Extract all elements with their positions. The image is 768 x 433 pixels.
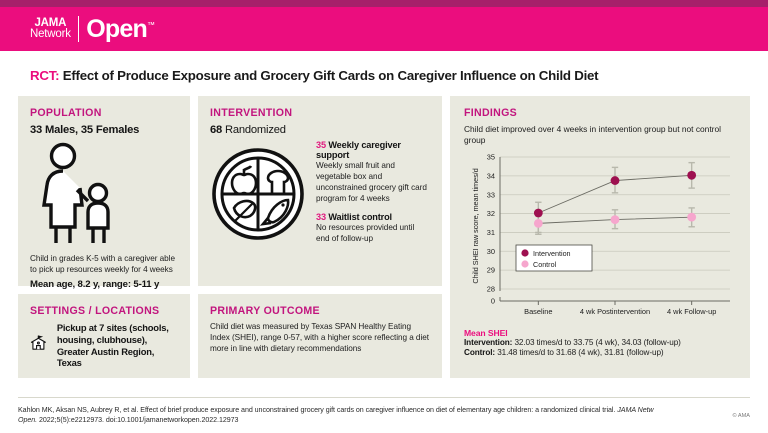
primary-outcome-panel: PRIMARY OUTCOME Child diet was measured … — [198, 294, 442, 378]
intervention-panel: INTERVENTION 68 Randomized — [198, 96, 442, 286]
primary-outcome-text: Child diet was measured by Texas SPAN He… — [210, 322, 430, 354]
right-column: FINDINGS Child diet improved over 4 week… — [450, 96, 750, 378]
logo-line-network: Network — [30, 29, 71, 40]
mean-summary: Mean SHEI Intervention: 32.03 times/d to… — [464, 328, 736, 359]
brand-accent-bar — [0, 0, 768, 7]
arm-name: Weekly caregiver support — [316, 140, 401, 160]
population-panel: POPULATION 33 Males, 35 Females — [18, 96, 190, 286]
mean-value-control: 31.48 times/d to 31.68 (4 wk), 31.81 (fo… — [497, 348, 663, 357]
school-building-icon — [30, 322, 47, 364]
logo-open-wordmark: Open™ — [79, 15, 154, 44]
copyright-notice: © AMA — [733, 405, 751, 419]
settings-panel: SETTINGS / LOCATIONS Pickup at 7 sites (… — [18, 294, 190, 378]
arm-description: No resources provided until end of follo… — [316, 223, 430, 245]
randomized-label: Randomized — [225, 124, 286, 136]
mean-label-intervention: Intervention: — [464, 338, 512, 347]
study-title-text: Effect of Produce Exposure and Grocery G… — [63, 68, 599, 83]
chart-x-tick-label: Baseline — [524, 307, 552, 316]
healthy-plate-icon — [210, 146, 306, 242]
randomized-count: 68 — [210, 124, 222, 136]
left-column: POPULATION 33 Males, 35 Females — [18, 96, 190, 378]
population-stat: 33 Males, 35 Females — [30, 124, 178, 136]
population-icon-wrap — [30, 136, 178, 250]
chart-y-tick: 35 — [487, 152, 495, 161]
settings-heading: SETTINGS / LOCATIONS — [30, 305, 178, 317]
findings-chart: Child SHEI raw score, mean times/d 28293… — [464, 149, 736, 321]
citation-doi: 2022;5(5):e2212973. doi:10.1001/jamanetw… — [37, 416, 238, 424]
mean-summary-heading: Mean SHEI — [464, 328, 736, 338]
chart-y-tick: 29 — [487, 265, 495, 274]
chart-y-axis-label: Child SHEI raw score, mean times/d — [471, 151, 483, 301]
population-heading: POPULATION — [30, 107, 178, 119]
chart-y-tick: 33 — [487, 190, 495, 199]
study-type-label: RCT: — [30, 68, 59, 83]
chart-x-tick-label: 4 wk Postintervention — [580, 307, 650, 316]
mean-summary-row: Control: 31.48 times/d to 31.68 (4 wk), … — [464, 348, 736, 359]
mean-summary-row: Intervention: 32.03 times/d to 33.75 (4 … — [464, 338, 736, 349]
population-age: Mean age, 8.2 y, range: 5-11 y — [30, 279, 178, 290]
citation: Kahlon MK, Aksan NS, Aubrey R, et al. Ef… — [18, 405, 658, 425]
intervention-arm: 35 Weekly caregiver support Weekly small… — [316, 140, 430, 205]
chart-data-point — [611, 176, 620, 185]
findings-heading: FINDINGS — [464, 107, 736, 119]
logo-open-text: Open — [86, 15, 147, 43]
chart-legend-label: Control — [533, 259, 557, 268]
chart-y-tick: 30 — [487, 247, 495, 256]
chart-y-tick: 34 — [487, 171, 495, 180]
intervention-randomized: 68 Randomized — [210, 124, 430, 136]
caregiver-and-child-icon — [36, 142, 124, 246]
trademark-icon: ™ — [147, 20, 154, 29]
jama-network-open-logo: JAMA Network Open™ — [30, 15, 154, 44]
intervention-arms: 35 Weekly caregiver support Weekly small… — [316, 140, 430, 247]
page-title: RCT: Effect of Produce Exposure and Groc… — [0, 51, 768, 96]
findings-summary: Child diet improved over 4 weeks in inte… — [464, 124, 736, 147]
chart-svg: 28293031323334350Baseline4 wk Postinterv… — [464, 149, 736, 321]
intervention-heading: INTERVENTION — [210, 107, 430, 119]
chart-y-tick: 28 — [487, 284, 495, 293]
middle-column: INTERVENTION 68 Randomized — [198, 96, 442, 378]
mean-label-control: Control: — [464, 348, 495, 357]
intervention-icon-wrap — [210, 140, 306, 247]
chart-legend-label: Intervention — [533, 248, 571, 257]
intervention-arm: 33 Waitlist control No resources provide… — [316, 212, 430, 245]
mean-value-intervention: 32.03 times/d to 33.75 (4 wk), 34.03 (fo… — [514, 338, 680, 347]
footer-divider — [18, 397, 750, 398]
arm-count: 35 — [316, 140, 326, 150]
jama-network-wordmark: JAMA Network — [30, 18, 78, 40]
chart-data-point — [534, 219, 543, 228]
footer: Kahlon MK, Aksan NS, Aubrey R, et al. Ef… — [0, 397, 768, 433]
findings-panel: FINDINGS Child diet improved over 4 week… — [450, 96, 750, 378]
arm-name: Waitlist control — [328, 212, 392, 222]
chart-y-tick-zero: 0 — [491, 296, 495, 305]
citation-authors-title: Kahlon MK, Aksan NS, Aubrey R, et al. Ef… — [18, 406, 617, 414]
chart-x-tick-label: 4 wk Follow-up — [667, 307, 716, 316]
chart-data-point — [611, 215, 620, 224]
settings-text: Pickup at 7 sites (schools, housing, clu… — [57, 322, 178, 369]
chart-y-tick: 32 — [487, 209, 495, 218]
population-note: Child in grades K-5 with a caregiver abl… — [30, 254, 178, 276]
chart-data-point — [687, 171, 696, 180]
arm-description: Weekly small fruit and vegetable box and… — [316, 161, 430, 205]
visual-abstract-page: JAMA Network Open™ RCT: Effect of Produc… — [0, 0, 768, 433]
chart-legend: InterventionControl — [516, 245, 592, 271]
chart-data-point — [534, 208, 543, 217]
arm-count: 33 — [316, 212, 326, 222]
chart-y-tick: 31 — [487, 228, 495, 237]
abstract-body: POPULATION 33 Males, 35 Females — [0, 96, 768, 378]
brand-header: JAMA Network Open™ — [0, 7, 768, 51]
primary-outcome-heading: PRIMARY OUTCOME — [210, 305, 430, 317]
chart-data-point — [687, 212, 696, 221]
